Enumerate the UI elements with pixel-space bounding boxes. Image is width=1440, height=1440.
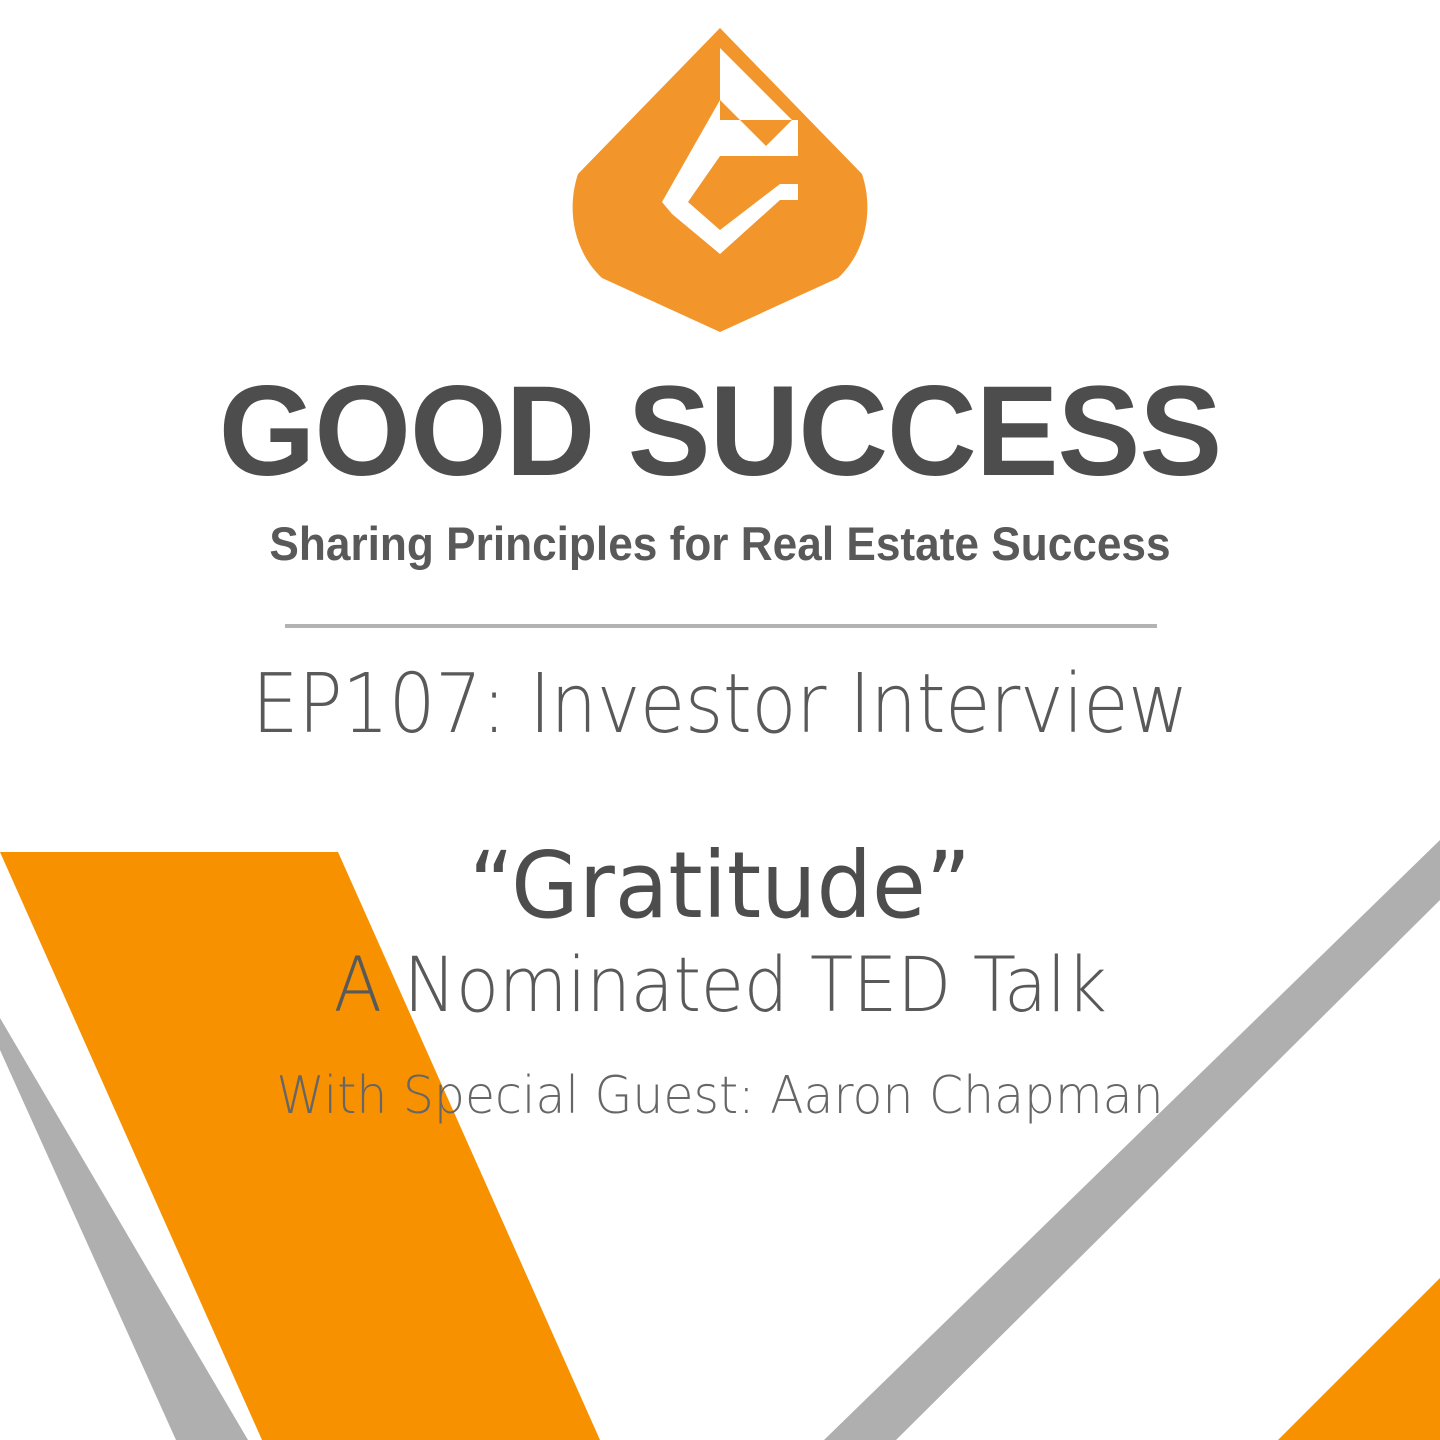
episode-subject: “Gratitude” xyxy=(36,836,1404,935)
page-title: GOOD SUCCESS xyxy=(22,368,1419,496)
cover-text-content: GOOD SUCCESS Sharing Principles for Real… xyxy=(0,0,1440,1440)
episode-guest: With Special Guest: Aaron Chapman xyxy=(43,1068,1397,1125)
brand-tagline: Sharing Principles for Real Estate Succe… xyxy=(43,518,1397,570)
horizontal-divider xyxy=(285,624,1157,628)
podcast-cover-art: GOOD SUCCESS Sharing Principles for Real… xyxy=(0,0,1440,1440)
episode-descriptor: A Nominated TED Talk xyxy=(50,943,1389,1027)
episode-title: EP107: Investor Interview xyxy=(72,660,1368,750)
